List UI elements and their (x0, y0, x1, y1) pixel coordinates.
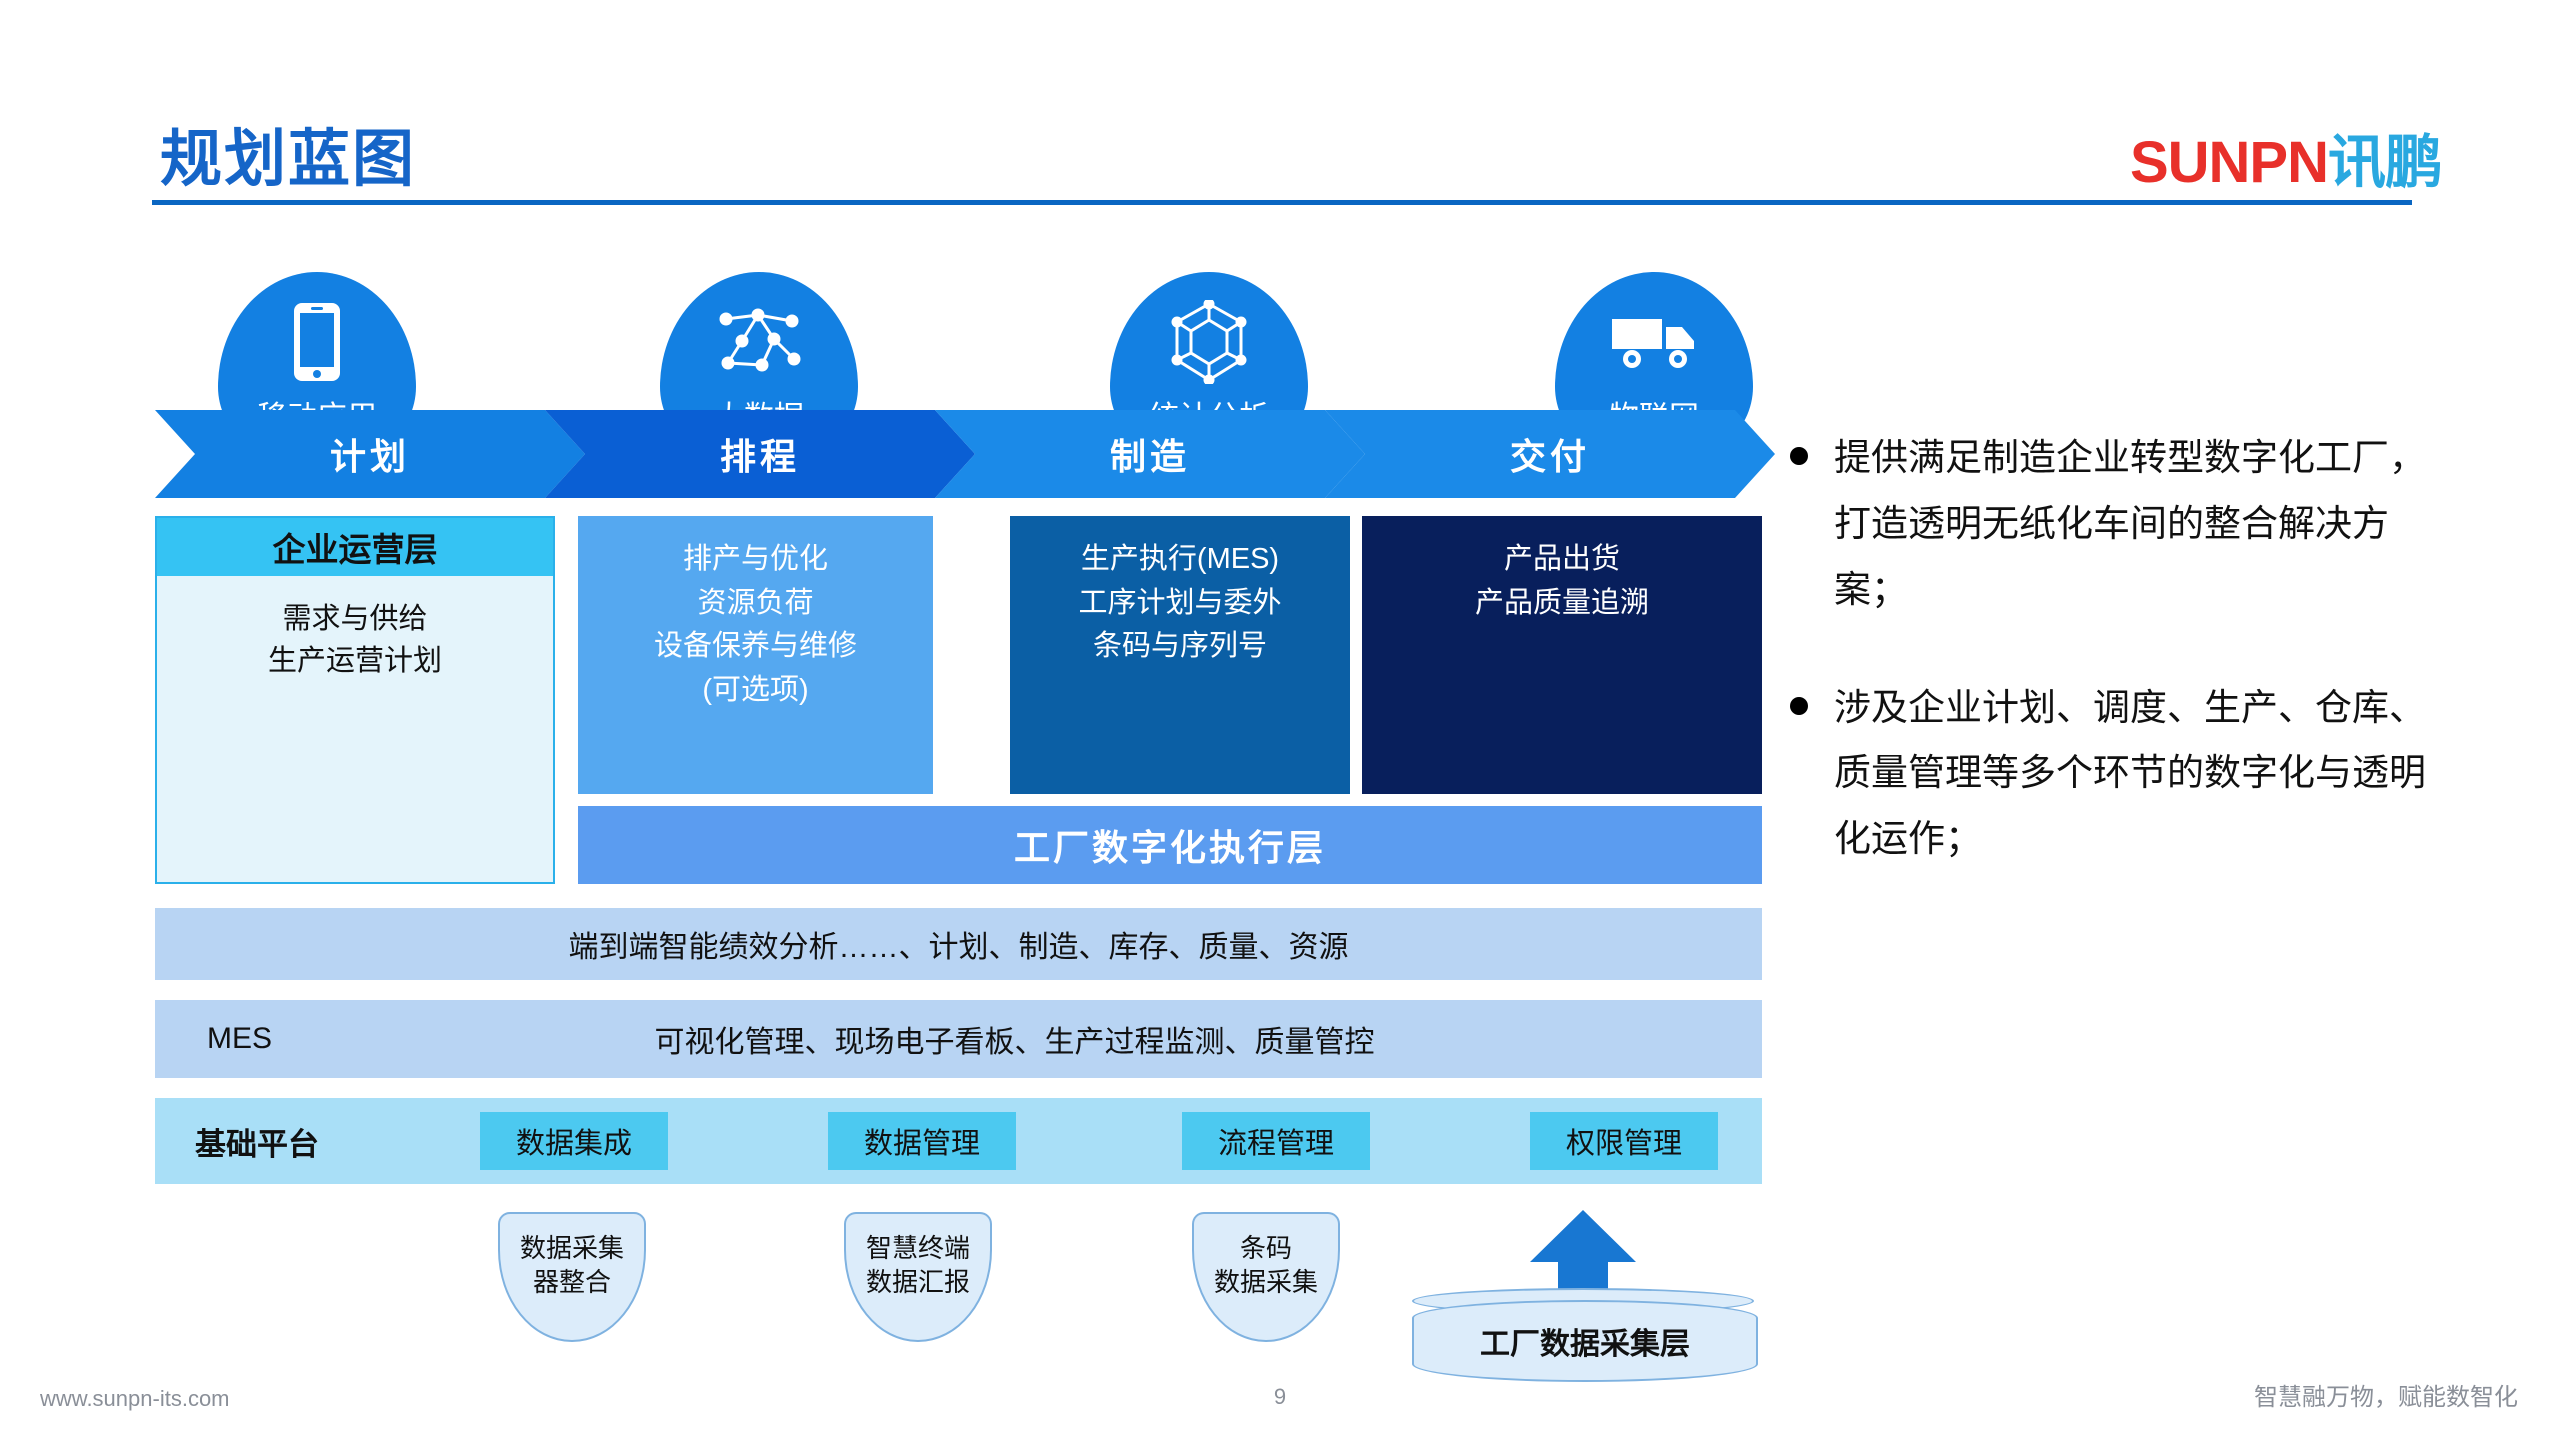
chip-process-management[interactable]: 流程管理 (1182, 1112, 1370, 1170)
column-line: 设备保养与维修 (654, 625, 857, 669)
chip-data-integration[interactable]: 数据集成 (480, 1112, 668, 1170)
shield-smart-terminal[interactable]: 智慧终端 数据汇报 (844, 1212, 992, 1342)
column-line: 产品出货 (1504, 538, 1620, 582)
truck-icon (1608, 298, 1700, 386)
footer-slogan: 智慧融万物，赋能数智化 (2254, 1377, 2518, 1412)
title-divider (152, 200, 2412, 205)
cube-analytics-icon (1169, 298, 1249, 386)
shield-line: 条码 (1240, 1232, 1292, 1266)
chevron-manufacture[interactable]: 制造 (935, 410, 1365, 498)
chip-permission-management[interactable]: 权限管理 (1530, 1112, 1718, 1170)
brand-logo-en: SUNPN (2130, 130, 2328, 195)
footer-page-number: 9 (0, 1384, 2560, 1410)
column-line: 生产执行(MES) (1081, 538, 1279, 582)
shield-barcode[interactable]: 条码 数据采集 (1192, 1212, 1340, 1342)
band-mes-tag: MES (207, 1022, 407, 1056)
column-line: 产品质量追溯 (1475, 582, 1649, 626)
ops-line: 生产运营计划 (157, 640, 553, 682)
column-manufacture[interactable]: 生产执行(MES) 工序计划与委外 条码与序列号 (1010, 516, 1350, 794)
bullet-dot-icon (1790, 697, 1808, 715)
enterprise-operation-panel[interactable]: 企业运营层 需求与供给 生产运营计划 (155, 516, 555, 884)
column-line: 排产与优化 (683, 538, 828, 582)
band-mes[interactable]: MES 可视化管理、现场电子看板、生产过程监测、质量管控 (155, 1000, 1762, 1078)
column-schedule[interactable]: 排产与优化 资源负荷 设备保养与维修 (可选项) (578, 516, 933, 794)
list-item: 涉及企业计划、调度、生产、仓库、质量管理等多个环节的数字化与透明化运作； (1790, 675, 2430, 873)
chip-data-management[interactable]: 数据管理 (828, 1112, 1016, 1170)
chip-label: 数据集成 (516, 1120, 632, 1162)
band-mes-text: 可视化管理、现场电子看板、生产过程监测、质量管控 (407, 1017, 1762, 1061)
column-line: 工序计划与委外 (1078, 582, 1281, 626)
panel-body: 需求与供给 生产运营计划 (157, 576, 553, 682)
list-item: 提供满足制造企业转型数字化工厂，打造透明无纸化车间的整合解决方案； (1790, 425, 2430, 623)
chip-label: 权限管理 (1566, 1120, 1682, 1162)
brand-logo-cn: 讯鹏 (2328, 130, 2442, 195)
panel-header: 企业运营层 (157, 518, 553, 576)
page-title: 规划蓝图 (160, 108, 416, 198)
shield-line: 数据采集 (520, 1232, 624, 1266)
brand-logo: SUNPN讯鹏 (2130, 115, 2442, 199)
chip-label: 数据管理 (864, 1120, 980, 1162)
chevron-plan[interactable]: 计划 (155, 410, 585, 498)
phase-chevron-band: 计划 排程 制造 交付 (155, 410, 1775, 498)
network-nodes-icon (716, 298, 802, 386)
chevron-delivery[interactable]: 交付 (1325, 410, 1775, 498)
cylinder-label: 工厂数据采集层 (1480, 1319, 1690, 1363)
shield-line: 智慧终端 (866, 1232, 970, 1266)
chevron-label: 排程 (720, 428, 800, 480)
ops-line: 需求与供给 (157, 598, 553, 640)
smartphone-icon (290, 298, 344, 386)
factory-data-collection-layer[interactable]: 工厂数据采集层 (1412, 1300, 1758, 1382)
band-end-to-end[interactable]: 端到端智能绩效分析……、计划、制造、库存、质量、资源 (155, 908, 1762, 980)
band-text: 端到端智能绩效分析……、计划、制造、库存、质量、资源 (569, 922, 1349, 966)
shield-data-collector[interactable]: 数据采集 器整合 (498, 1212, 646, 1342)
band-base-tag: 基础平台 (195, 1119, 375, 1164)
chevron-label: 交付 (1510, 428, 1590, 480)
bullet-text: 提供满足制造企业转型数字化工厂，打造透明无纸化车间的整合解决方案； (1834, 425, 2430, 623)
column-line: 条码与序列号 (1093, 625, 1267, 669)
chevron-schedule[interactable]: 排程 (545, 410, 975, 498)
chevron-label: 制造 (1110, 428, 1190, 480)
bullet-list: 提供满足制造企业转型数字化工厂，打造透明无纸化车间的整合解决方案； 涉及企业计划… (1790, 425, 2430, 924)
shield-line: 数据汇报 (866, 1266, 970, 1300)
shield-line: 数据采集 (1214, 1266, 1318, 1300)
column-line: 资源负荷 (697, 582, 813, 626)
column-line: (可选项) (702, 669, 808, 713)
shield-line: 器整合 (533, 1266, 611, 1300)
chip-label: 流程管理 (1218, 1120, 1334, 1162)
bullet-text: 涉及企业计划、调度、生产、仓库、质量管理等多个环节的数字化与透明化运作； (1834, 675, 2430, 873)
exec-bar-label: 工厂数字化执行层 (1014, 819, 1326, 871)
column-delivery[interactable]: 产品出货 产品质量追溯 (1362, 516, 1762, 794)
factory-digital-execution-bar[interactable]: 工厂数字化执行层 (578, 806, 1762, 884)
bullet-dot-icon (1790, 447, 1808, 465)
chevron-label: 计划 (330, 428, 410, 480)
